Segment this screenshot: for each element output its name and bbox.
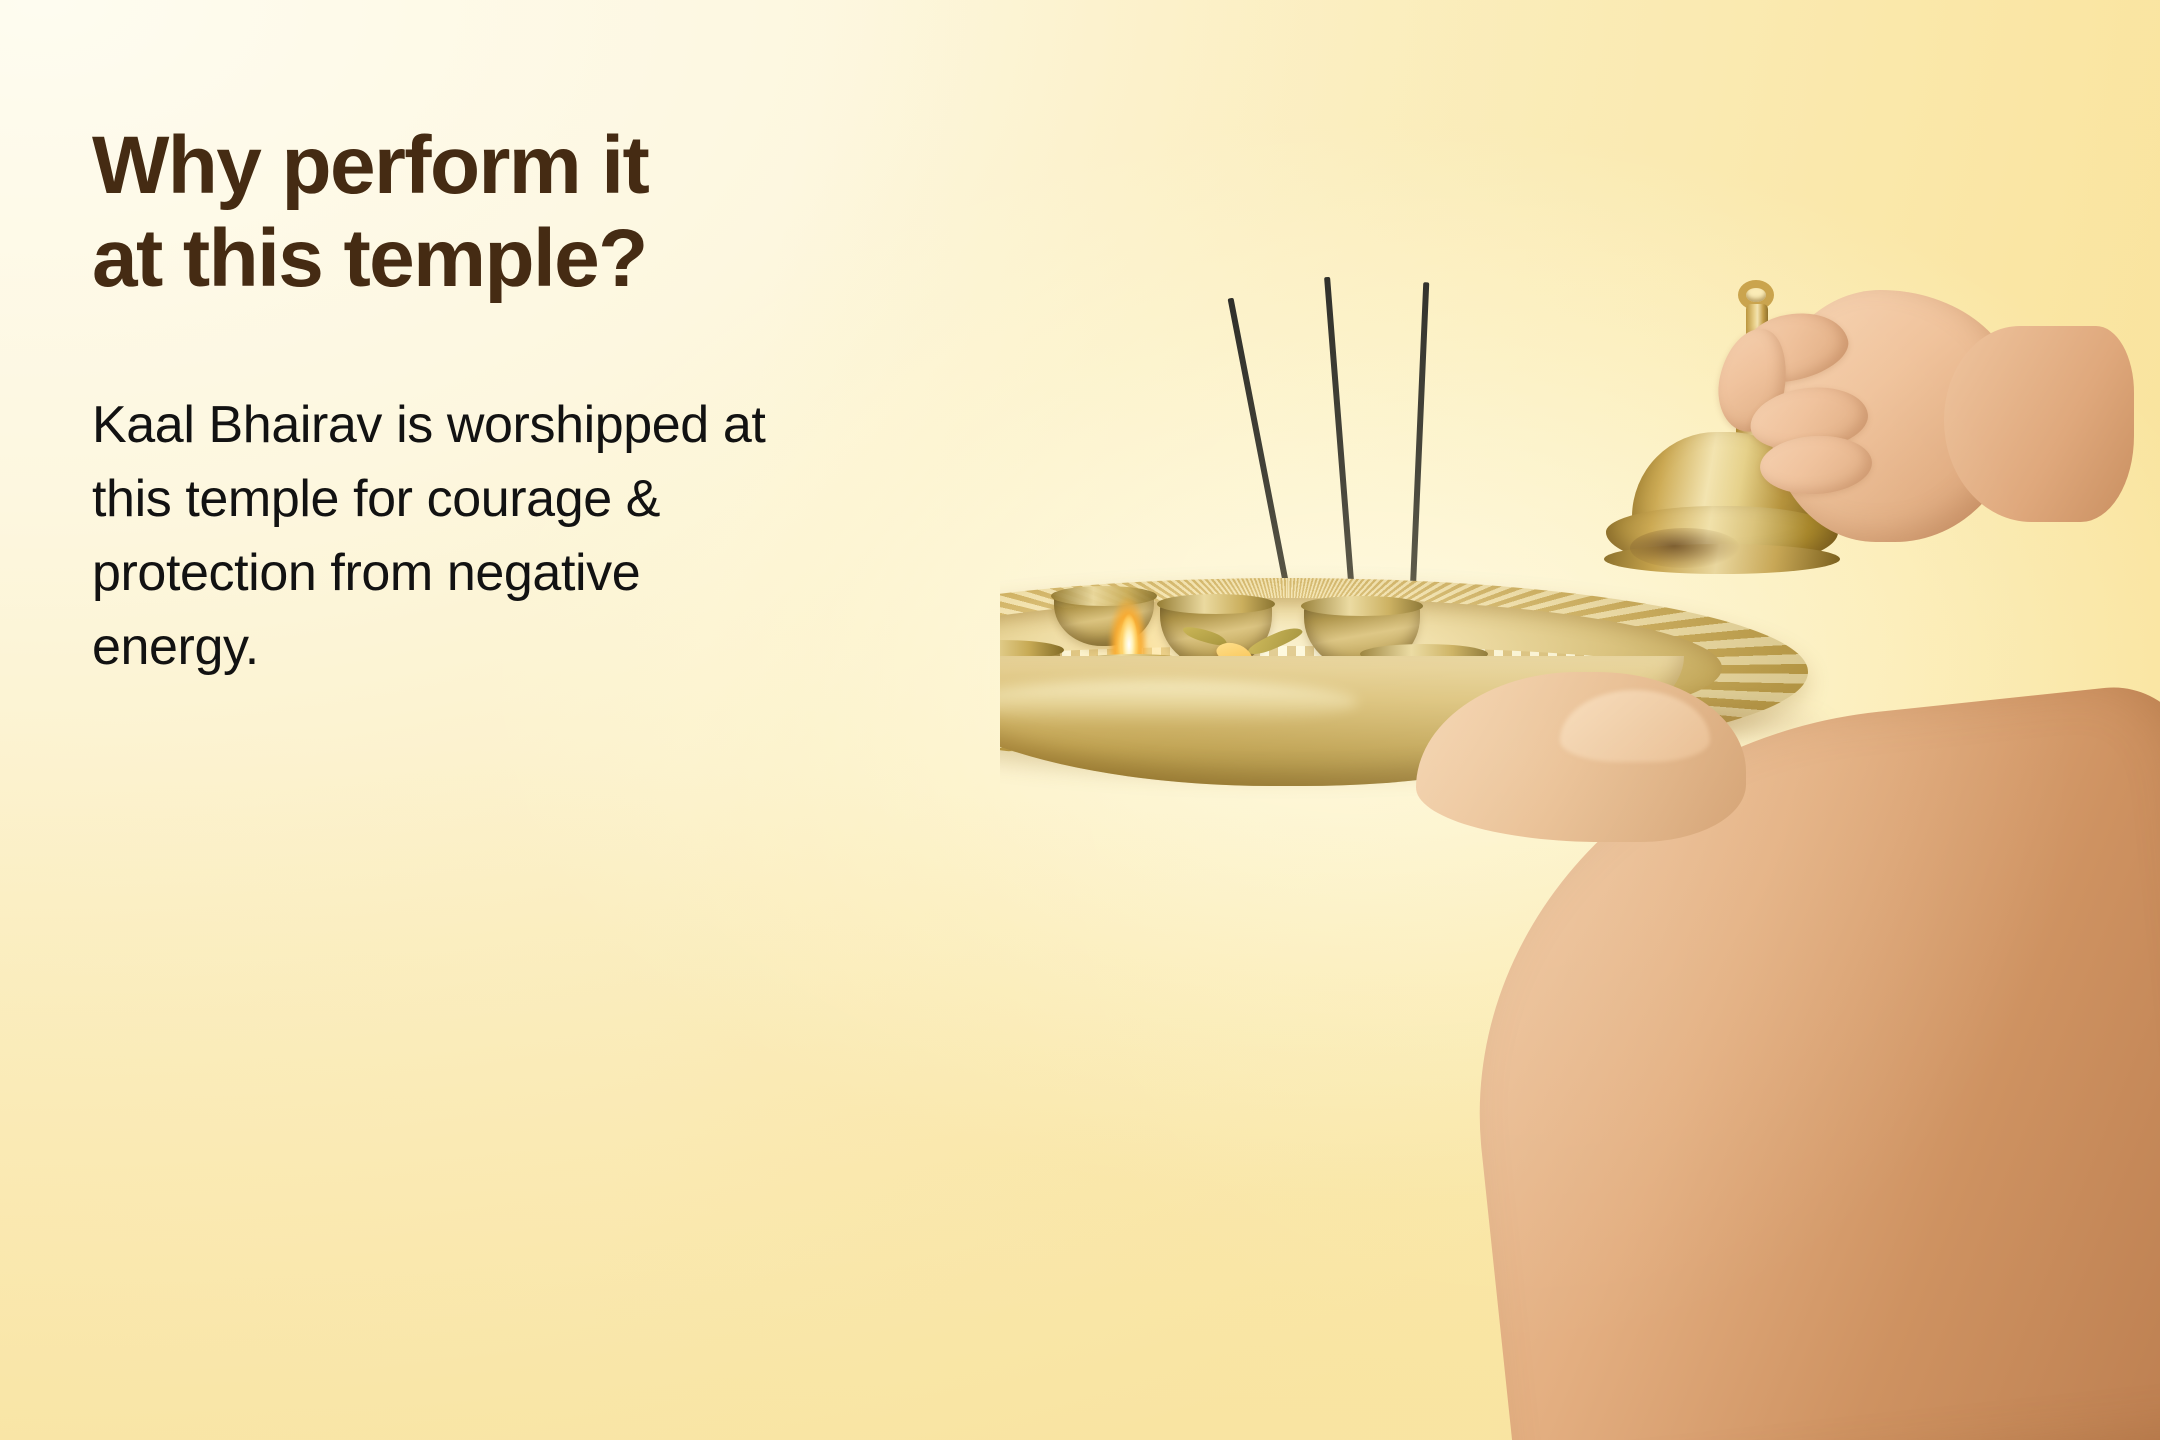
puja-photograph (1000, 0, 2160, 1440)
bell-and-hand-group (1560, 270, 2020, 600)
page-title: Why perform it at this temple? (92, 120, 712, 305)
ringing-hand-wrist (1944, 326, 2134, 522)
description-paragraph: Kaal Bhairav is worshipped at this templ… (92, 389, 782, 684)
text-column: Why perform it at this temple? Kaal Bhai… (92, 120, 1052, 685)
